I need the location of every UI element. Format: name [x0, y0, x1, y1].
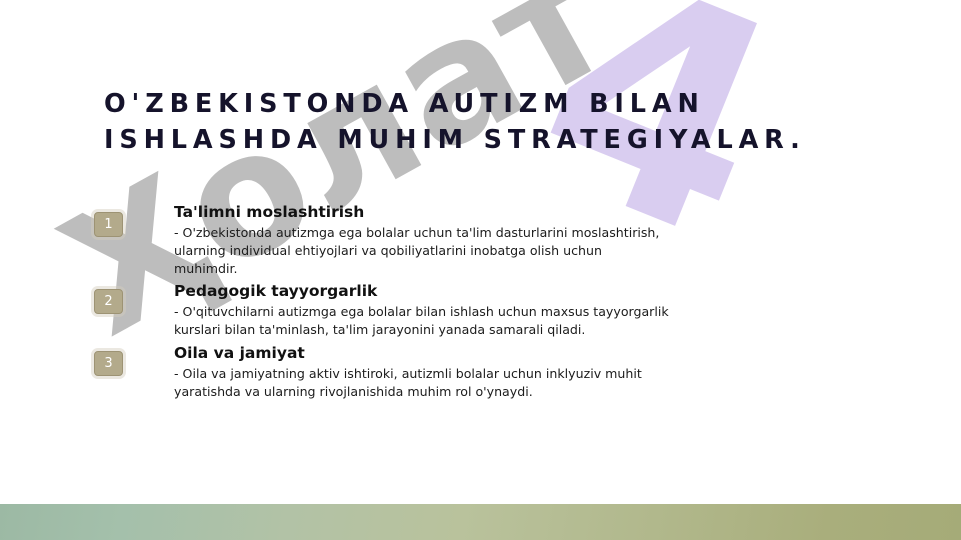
list-item-heading: Ta'limni moslashtirish [174, 203, 694, 223]
list-item-body: Ta'limni moslashtirish - O'zbekistonda a… [174, 203, 694, 277]
strategy-list: 1 Ta'limni moslashtirish - O'zbekistonda… [94, 203, 694, 401]
list-item-heading: Pedagogik tayyorgarlik [174, 282, 694, 302]
slide: Ҳолат 4 O'ZBEKISTONDA AUTIZM BILAN ISHLA… [0, 0, 961, 540]
list-item-text: - Oila va jamiyatning aktiv ishtiroki, a… [174, 365, 684, 401]
slide-title: O'ZBEKISTONDA AUTIZM BILAN ISHLASHDA MUH… [104, 86, 864, 158]
list-item-text: - O'zbekistonda autizmga ega bolalar uch… [174, 224, 669, 278]
list-item-number-badge: 1 [94, 212, 123, 237]
slide-title-line-1: O'ZBEKISTONDA AUTIZM BILAN [104, 86, 864, 122]
list-item: 2 Pedagogik tayyorgarlik - O'qituvchilar… [94, 282, 694, 339]
footer-gradient-bar [0, 504, 961, 540]
list-item-number-badge: 3 [94, 351, 123, 376]
slide-title-line-2: ISHLASHDA MUHIM STRATEGIYALAR. [104, 122, 864, 158]
list-item-body: Pedagogik tayyorgarlik - O'qituvchilarni… [174, 282, 694, 339]
list-item-heading: Oila va jamiyat [174, 344, 694, 364]
list-item: 3 Oila va jamiyat - Oila va jamiyatning … [94, 344, 694, 401]
list-item-number-badge: 2 [94, 289, 123, 314]
list-item-body: Oila va jamiyat - Oila va jamiyatning ak… [174, 344, 694, 401]
list-item: 1 Ta'limni moslashtirish - O'zbekistonda… [94, 203, 694, 277]
list-item-text: - O'qituvchilarni autizmga ega bolalar b… [174, 303, 669, 339]
